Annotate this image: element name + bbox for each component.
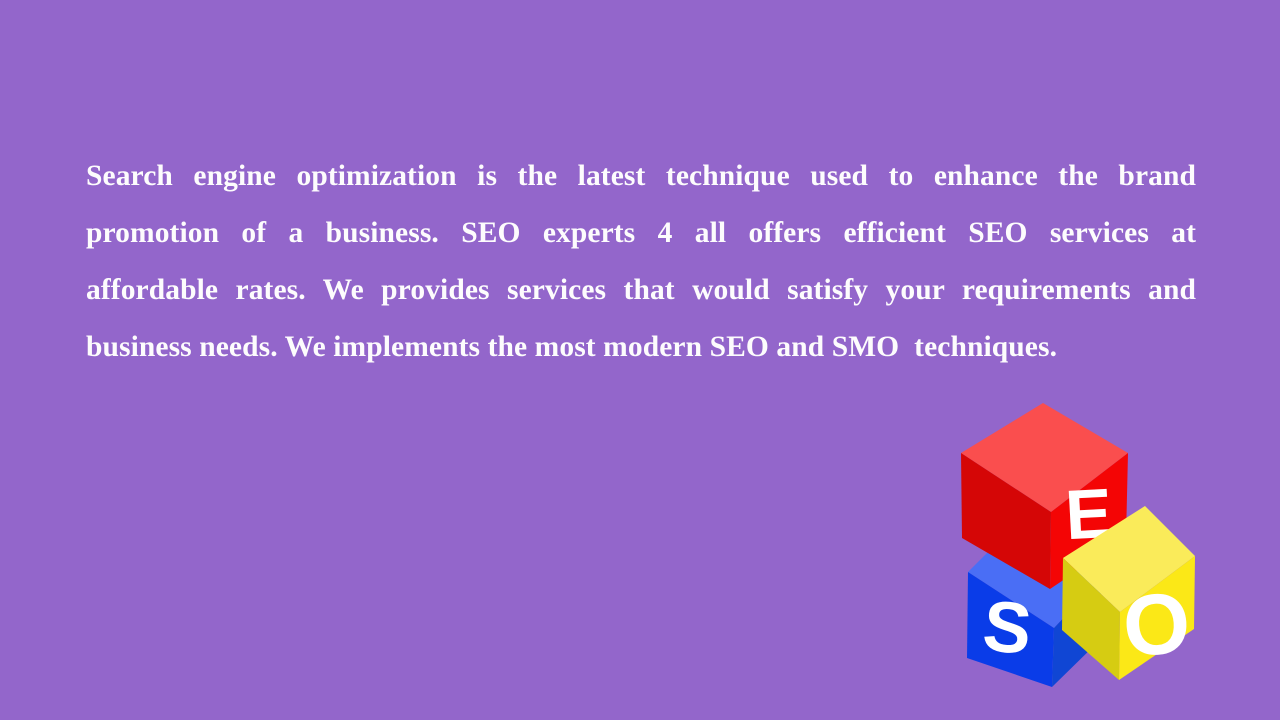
body-copy-line-1: Search engine optimization is the latest… xyxy=(86,148,1196,205)
body-copy-block: Search engine optimization is the latest… xyxy=(86,148,1196,376)
seo-blocks-illustration: S E O xyxy=(905,390,1205,695)
yellow-cube-letter: O xyxy=(1120,575,1193,675)
body-copy-line-2: promotion of a business. SEO experts 4 a… xyxy=(86,205,1196,262)
page-title: Search engine optimization is the latest… xyxy=(86,148,1196,376)
body-copy-line-4: business needs. We implements the most m… xyxy=(86,319,1196,376)
body-copy-line-3: affordable rates. We provides services t… xyxy=(86,262,1196,319)
slide-canvas: Search engine optimization is the latest… xyxy=(0,0,1280,720)
seo-blocks-svg: S E O xyxy=(905,390,1205,695)
blue-cube-letter: S xyxy=(979,586,1035,671)
